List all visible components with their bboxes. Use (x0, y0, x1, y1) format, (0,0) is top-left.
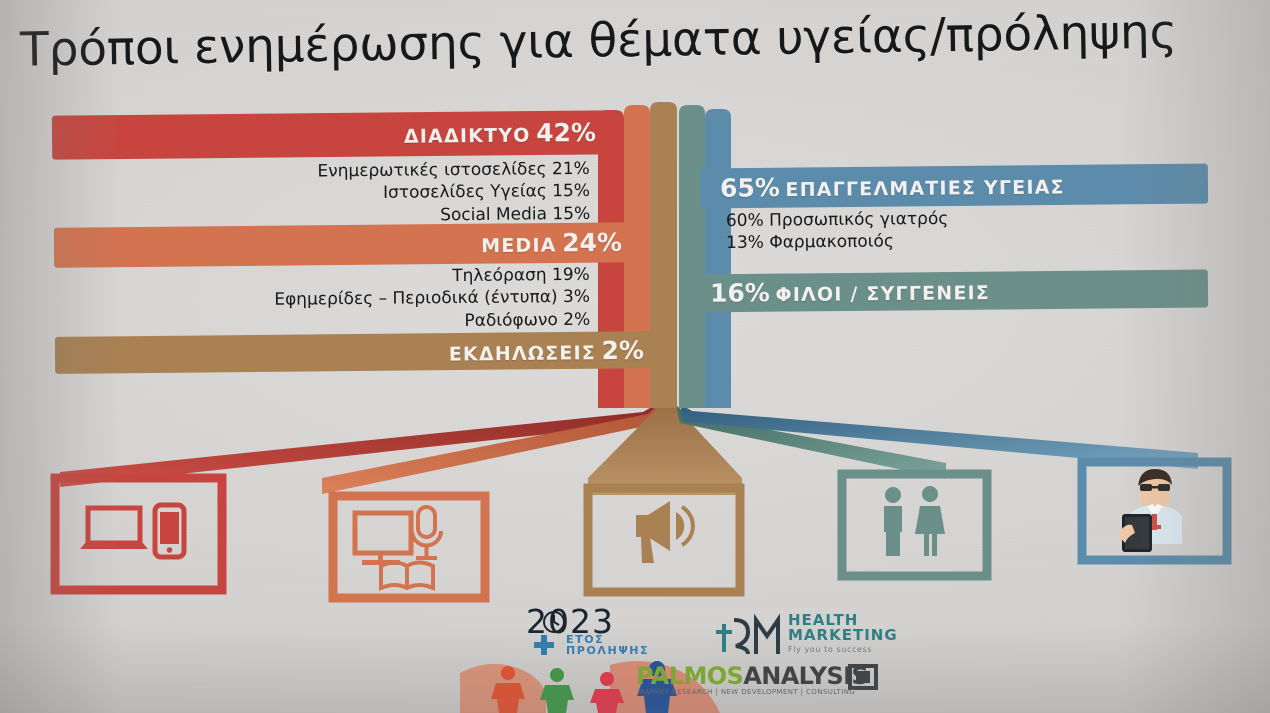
tv-microphone-book-icon (355, 507, 441, 588)
panel-friends[interactable] (842, 474, 987, 576)
two-people-icon (884, 486, 945, 556)
palmos-name-a: PALMOS (636, 662, 743, 690)
panel-professionals[interactable] (1082, 462, 1227, 560)
doctor-with-tablet-icon (1118, 469, 1182, 552)
laptop-and-phone-icon (80, 505, 184, 557)
logo-palmos-analysis: PALMOSANALYSIS MARKET RESEARCH | NEW DEV… (636, 662, 886, 704)
panel-events[interactable] (588, 488, 740, 592)
hm-line2: MARKETING (788, 628, 898, 643)
logo-health-marketing: HEALTH MARKETING Fly you to success (712, 610, 902, 660)
panel-media[interactable] (333, 496, 485, 598)
panel-internet[interactable] (55, 478, 222, 590)
palmos-tagline: MARKET RESEARCH | NEW DEVELOPMENT | CONS… (638, 688, 855, 696)
megaphone-icon (636, 501, 693, 563)
hm-tagline: Fly you to success (788, 646, 898, 654)
palmos-square-icon (848, 664, 880, 690)
hm-mark-icon (712, 610, 792, 656)
